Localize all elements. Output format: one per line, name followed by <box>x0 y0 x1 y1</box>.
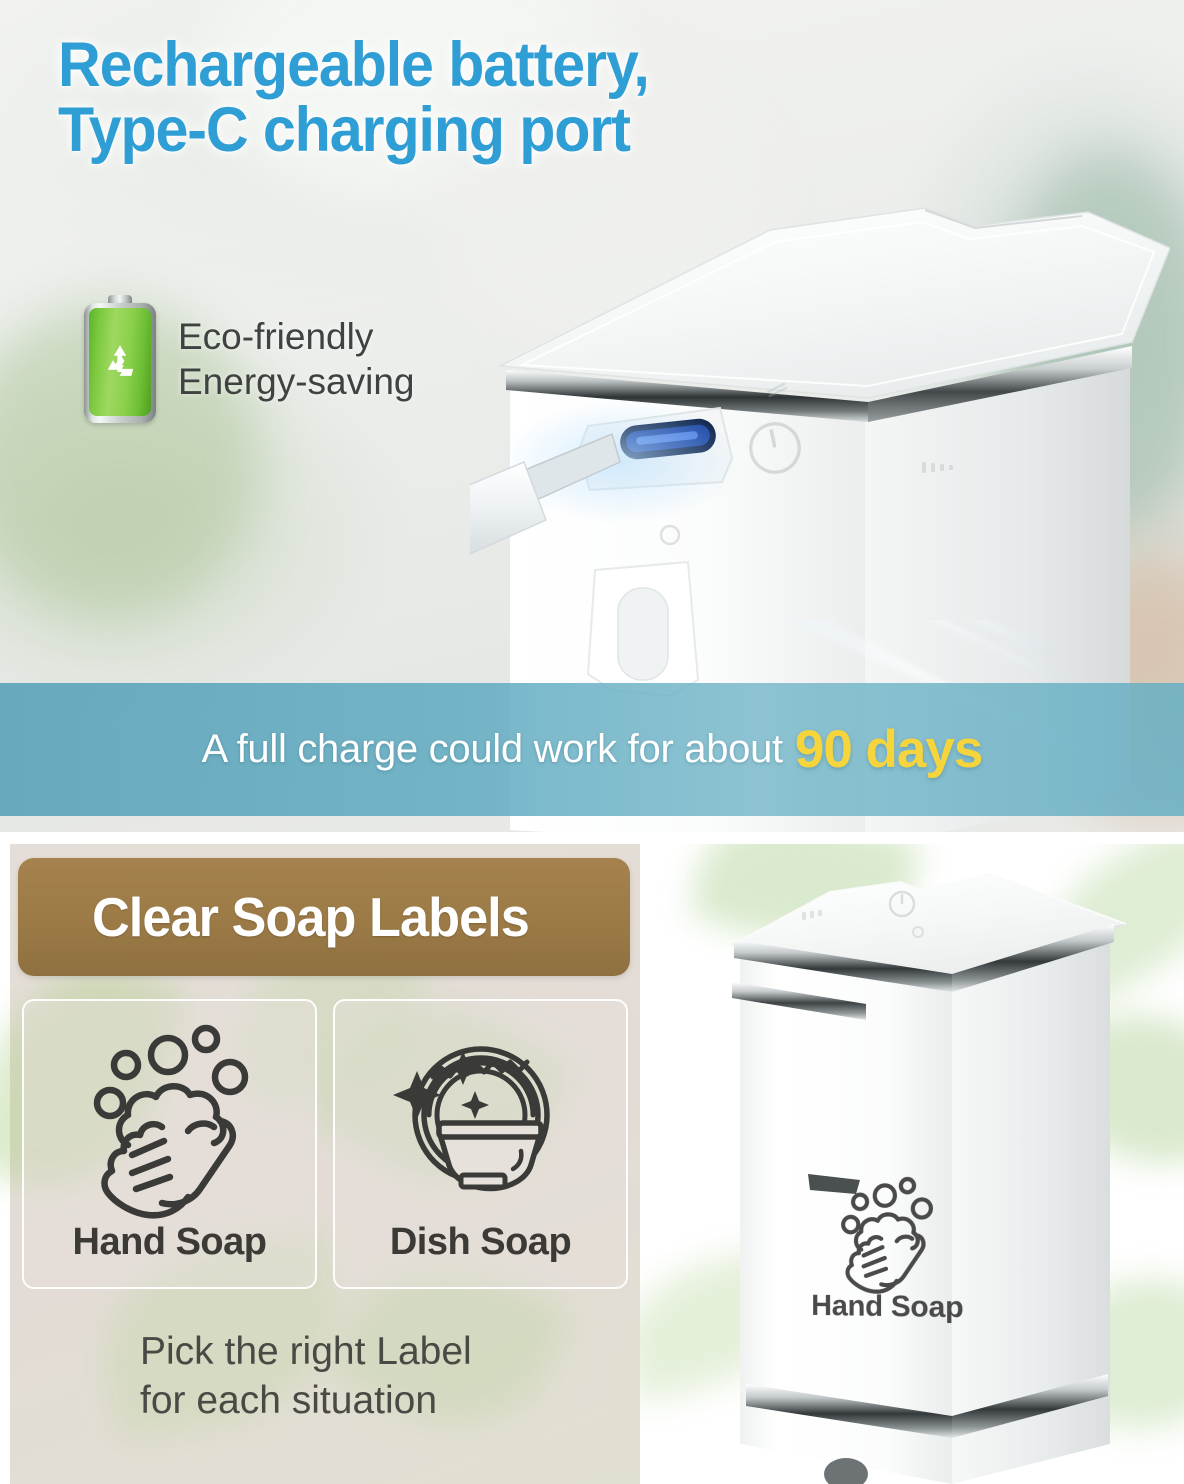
hand-washing-icon <box>824 1173 950 1295</box>
banner-text: A full charge could work for about <box>202 727 783 772</box>
soap-dispenser-product-bottom: Hand Soap <box>690 844 1160 1484</box>
hand-washing-icon <box>70 1019 270 1219</box>
clear-soap-labels-badge: Clear Soap Labels <box>18 858 630 976</box>
labels-caption: Pick the right Label for each situation <box>140 1328 472 1426</box>
applied-hand-soap-sticker: Hand Soap <box>780 1172 997 1326</box>
dish-bowl-plate-icon <box>381 1019 581 1219</box>
soap-card-dish-soap[interactable]: Dish Soap <box>333 999 628 1289</box>
eco-feature-text: Eco-friendly Energy-saving <box>178 314 415 404</box>
battery-life-banner: A full charge could work for about 90 da… <box>0 683 1184 816</box>
dispenser-with-label-illustration <box>690 844 1160 1484</box>
soap-card-label: Hand Soap <box>73 1221 267 1264</box>
dispenser-nozzle-bracket <box>588 562 698 696</box>
eco-feature-row: Eco-friendly Energy-saving <box>84 295 415 423</box>
soap-card-label: Dish Soap <box>390 1221 571 1264</box>
labels-section: Clear Soap Labels <box>10 844 640 1484</box>
banner-accent-days: 90 days <box>795 719 982 780</box>
panel-headline: Rechargeable battery, Type-C charging po… <box>58 33 866 163</box>
badge-title: Clear Soap Labels <box>92 885 529 949</box>
recycle-battery-icon <box>84 295 156 423</box>
clear-soap-labels-panel: Clear Soap Labels <box>0 844 1184 1484</box>
soap-label-cards: Hand Soap <box>22 999 628 1289</box>
product-feature-image: Rechargeable battery, Type-C charging po… <box>0 0 1184 1484</box>
soap-card-hand-soap[interactable]: Hand Soap <box>22 999 317 1289</box>
rechargeable-battery-panel: Rechargeable battery, Type-C charging po… <box>0 0 1184 832</box>
sticker-label: Hand Soap <box>811 1289 963 1325</box>
